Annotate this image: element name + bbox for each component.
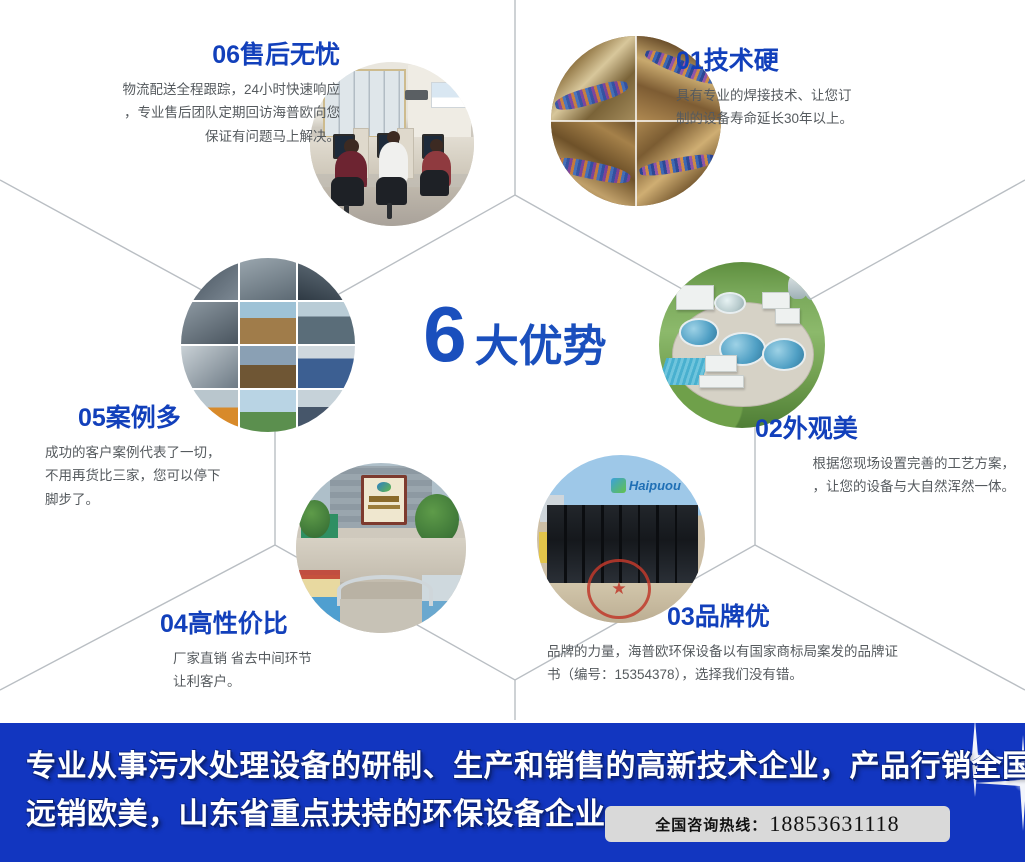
feature-04-title: 04高性价比 [160,611,480,639]
feature-03-title: 03品牌优 [667,604,1017,632]
center-number: 6 [423,295,464,373]
feature-03-desc-line-2: 书（编号：15354378），选择我们没有错。 [547,663,1025,687]
trademark-stamp-icon: ★ [587,559,650,619]
hotline-label: 全国咨询热线： [655,814,767,835]
hotline-number: 18853631118 [769,811,899,837]
feature-03-brand: 03品牌优 品牌的力量，海普欧环保设备以有国家商标局案发的品牌证 书（编号：15… [667,604,1017,687]
hotline-box[interactable]: 全国咨询热线： 18853631118 [605,806,950,842]
feature-05-title: 05案例多 [78,405,378,433]
feature-04-desc: 厂家直销 省去中间环节 让利客户。 [173,647,480,694]
feature-06-service: 06售后无忧 物流配送全程跟踪，24小时快速响应 ，专业售后团队定期回访海普欧向… [10,42,340,148]
feature-04-desc-line-1: 厂家直销 省去中间环节 [173,647,480,671]
feature-01-desc-line-1: 具有专业的焊接技术、让您订 [676,84,1016,108]
feature-02-desc-line-1: 根据您现场设置完善的工艺方案， [615,452,1015,476]
center-title: 6 大优势 [395,295,635,373]
feature-01-title: 01技术硬 [676,48,1016,76]
feature-02-desc: 根据您现场设置完善的工艺方案， ，让您的设备与大自然浑然一体。 [615,452,1015,499]
infographic-page: Haipuou ★ 6 大优势 06售后无忧 物流配送全程跟踪，24小时快速响应… [0,0,1025,862]
feature-01-desc: 具有专业的焊接技术、让您订 制的设备寿命延长30年以上。 [676,84,1016,131]
feature-06-title: 06售后无忧 [10,42,340,70]
feature-01-tech: 01技术硬 具有专业的焊接技术、让您订 制的设备寿命延长30年以上。 [676,48,1016,131]
feature-02-appearance: 02外观美 根据您现场设置完善的工艺方案， ，让您的设备与大自然浑然一体。 [755,416,1025,499]
feature-06-desc-line-3: 保证有问题马上解决。 [10,125,340,149]
photo-aerial-plant [659,262,825,428]
feature-02-desc-line-2: ，让您的设备与大自然浑然一体。 [615,475,1015,499]
feature-04-desc-line-2: 让利客户。 [173,670,480,694]
feature-02-title: 02外观美 [755,416,1025,444]
feature-03-desc-line-1: 品牌的力量，海普欧环保设备以有国家商标局案发的品牌证 [547,640,1025,664]
feature-05-desc: 成功的客户案例代表了一切， 不用再货比三家，您可以停下 脚步了。 [45,441,378,512]
banner-line-1: 专业从事污水处理设备的研制、生产和销售的高新技术企业，产品行销全国并 [26,743,906,791]
bottom-banner: 专业从事污水处理设备的研制、生产和销售的高新技术企业，产品行销全国并 远销欧美，… [0,723,1025,862]
feature-03-desc: 品牌的力量，海普欧环保设备以有国家商标局案发的品牌证 书（编号：15354378… [547,640,1025,687]
feature-01-desc-line-2: 制的设备寿命延长30年以上。 [676,107,1016,131]
center-label-text: 大优势 [475,325,607,369]
feature-05-cases: 05案例多 成功的客户案例代表了一切， 不用再货比三家，您可以停下 脚步了。 [78,405,378,511]
feature-06-desc: 物流配送全程跟踪，24小时快速响应 ，专业售后团队定期回访海普欧向您 保证有问题… [10,78,340,149]
feature-05-desc-line-2: 不用再货比三家，您可以停下 [45,464,378,488]
feature-06-desc-line-2: ，专业售后团队定期回访海普欧向您 [10,101,340,125]
feature-06-desc-line-1: 物流配送全程跟踪，24小时快速响应 [10,78,340,102]
feature-05-desc-line-3: 脚步了。 [45,488,378,512]
feature-04-value: 04高性价比 厂家直销 省去中间环节 让利客户。 [160,611,480,694]
feature-05-desc-line-1: 成功的客户案例代表了一切， [45,441,378,465]
